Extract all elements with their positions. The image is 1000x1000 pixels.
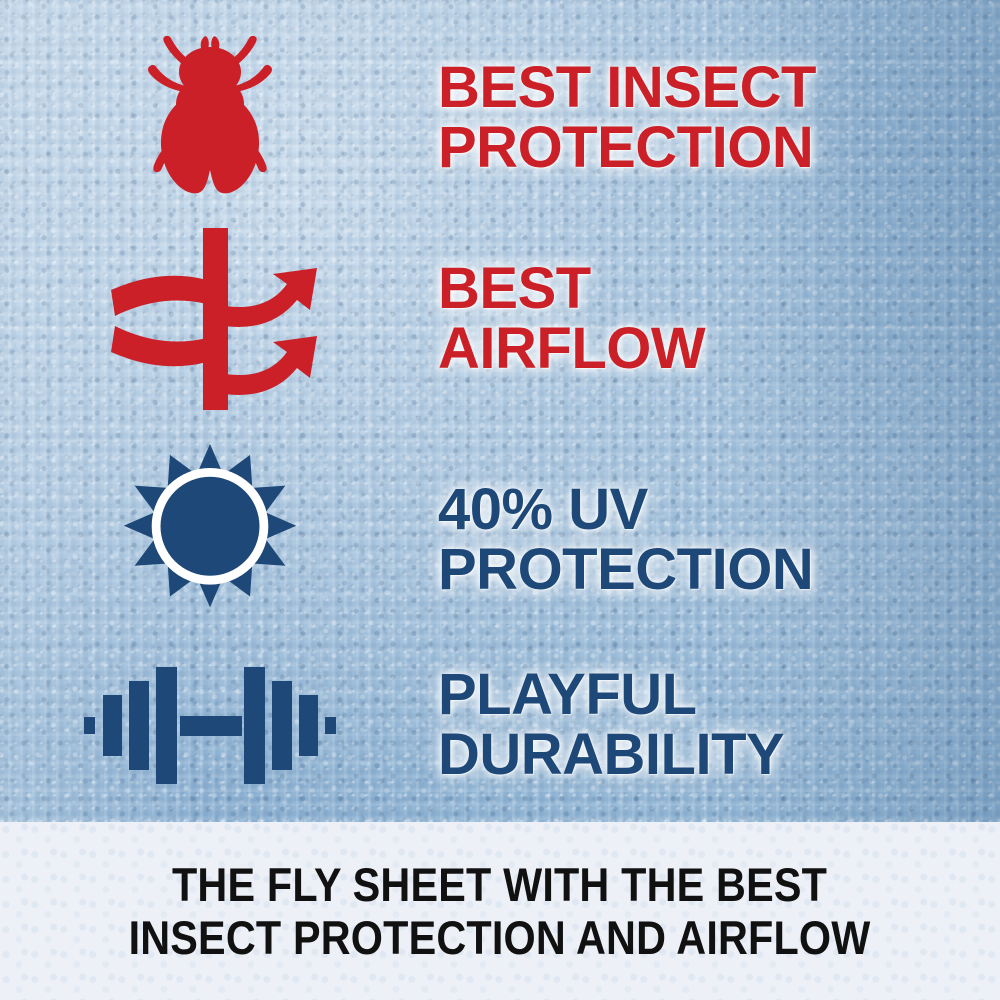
feature-icon-cell [0, 442, 420, 638]
feature-row-airflow: BEST AIRFLOW [0, 228, 1000, 410]
sun-icon [111, 442, 309, 638]
caption-headline: THE FLY SHEET WITH THE BEST INSECT PROTE… [129, 858, 871, 964]
infographic-poster: BEST INSECT PROTECTION [0, 0, 1000, 1000]
feature-text-cell: BEST AIRFLOW [420, 259, 1000, 378]
feature-icon-cell [0, 662, 420, 788]
feature-row-durability: PLAYFUL DURABILITY [0, 650, 1000, 800]
feature-icon-cell [0, 30, 420, 206]
feature-label-uv-protection: 40% UV PROTECTION [438, 480, 1000, 599]
airflow-arrows-icon [103, 228, 318, 410]
feature-icon-cell [0, 228, 420, 410]
fly-icon [130, 30, 290, 206]
feature-text-cell: 40% UV PROTECTION [420, 480, 1000, 599]
feature-text-cell: BEST INSECT PROTECTION [420, 58, 1000, 177]
feature-label-airflow: BEST AIRFLOW [438, 259, 1000, 378]
feature-text-cell: PLAYFUL DURABILITY [420, 665, 1000, 784]
feature-label-durability: PLAYFUL DURABILITY [438, 665, 1000, 784]
caption-band: THE FLY SHEET WITH THE BEST INSECT PROTE… [0, 822, 1000, 1000]
dumbbell-icon [84, 662, 336, 788]
feature-row-uv-protection: 40% UV PROTECTION [0, 440, 1000, 640]
feature-label-insect-protection: BEST INSECT PROTECTION [438, 58, 1000, 177]
feature-row-insect-protection: BEST INSECT PROTECTION [0, 28, 1000, 208]
